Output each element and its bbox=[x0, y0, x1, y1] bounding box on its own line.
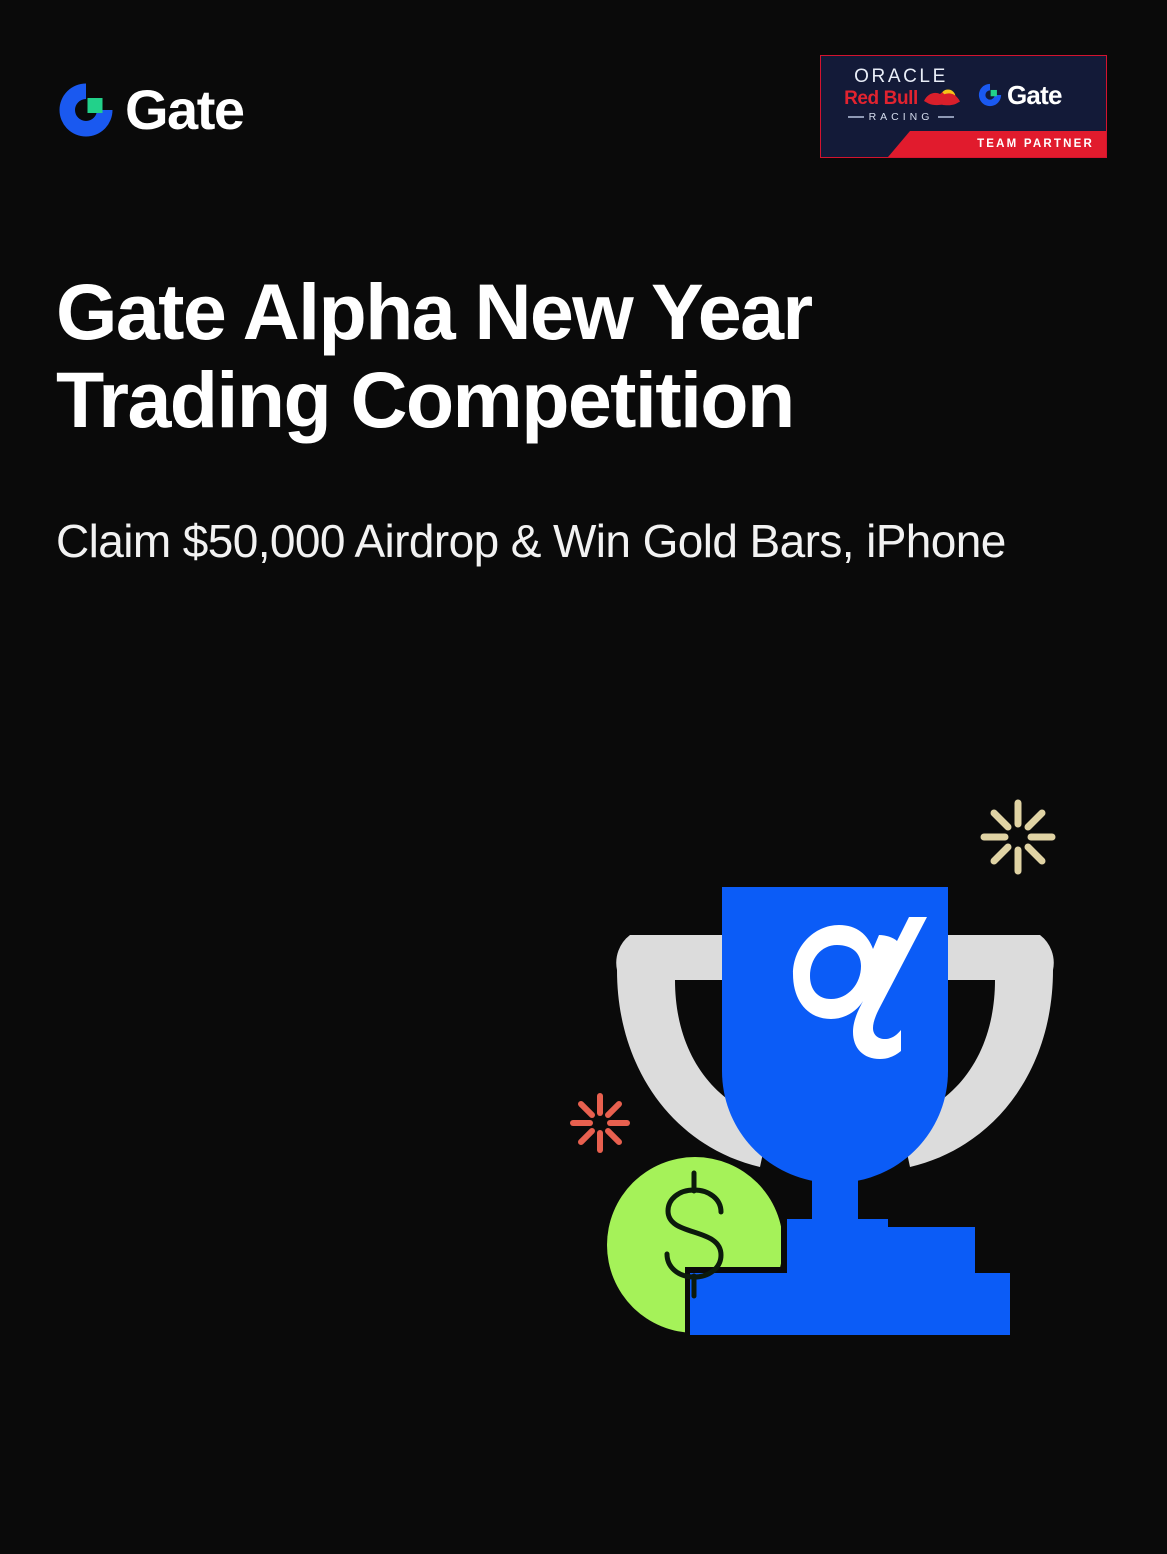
sparkle-burst-icon bbox=[573, 1096, 627, 1150]
page-subtitle: Claim $50,000 Airdrop & Win Gold Bars, i… bbox=[56, 508, 1016, 575]
gate-ring-logo-icon bbox=[55, 79, 117, 141]
racing-rule-left bbox=[848, 116, 864, 118]
racing-lockup: RACING bbox=[835, 112, 971, 123]
oracle-red-bull-racing-lockup: ORACLE Red Bull RACING bbox=[821, 67, 971, 122]
badge-gate-wordmark: Gate bbox=[1007, 82, 1062, 108]
dollar-coin-icon bbox=[607, 1157, 783, 1333]
red-bull-label: Red Bull bbox=[844, 89, 918, 108]
red-bull-charging-bulls-icon bbox=[922, 88, 962, 110]
gate-wordmark: Gate bbox=[125, 82, 244, 138]
red-bull-lockup: Red Bull bbox=[835, 88, 971, 110]
partner-badge-top-row: ORACLE Red Bull RACING bbox=[821, 56, 1106, 133]
racing-rule-right bbox=[938, 116, 954, 118]
alpha-trophy-illustration bbox=[555, 775, 1115, 1365]
racing-label: RACING bbox=[869, 112, 934, 123]
badge-gate-logo: Gate bbox=[977, 82, 1062, 108]
gate-ring-logo-icon bbox=[977, 82, 1003, 108]
page-title: Gate Alpha New Year Trading Competition bbox=[56, 268, 876, 445]
team-partner-strip: TEAM PARTNER bbox=[821, 131, 1106, 157]
sparkle-burst-icon bbox=[984, 803, 1052, 871]
promo-banner-page: Gate ORACLE Red Bull bbox=[0, 0, 1167, 1554]
team-partner-label: TEAM PARTNER bbox=[977, 131, 1094, 157]
oracle-label: ORACLE bbox=[835, 67, 971, 87]
oracle-red-bull-racing-partner-badge[interactable]: ORACLE Red Bull RACING bbox=[820, 55, 1107, 158]
gate-brand-logo[interactable]: Gate bbox=[55, 76, 244, 144]
